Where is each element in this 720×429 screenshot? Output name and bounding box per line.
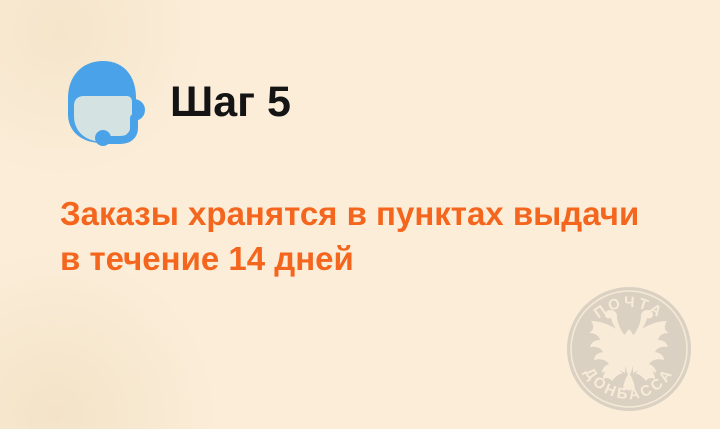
page-title: Шаг 5 (170, 81, 291, 124)
step-header: Шаг 5 (62, 58, 291, 146)
step-description-line-2: в течение 14 дней (60, 237, 700, 282)
pochta-donbassa-watermark: ПОЧТА ДОНБАССА (563, 277, 695, 417)
step-description-line-1: Заказы хранятся в пунктах выдачи (60, 192, 700, 237)
watermark-bottom-text: ДОНБАССА (581, 364, 678, 403)
double-headed-eagle-emblem (589, 310, 669, 391)
watermark-top-text: ПОЧТА (591, 294, 667, 322)
svg-text:ПОЧТА: ПОЧТА (591, 294, 667, 322)
support-headset-icon (62, 58, 146, 146)
svg-text:ДОНБАССА: ДОНБАССА (581, 364, 678, 403)
step-description: Заказы хранятся в пунктах выдачи в течен… (60, 192, 700, 281)
slide-canvas: Шаг 5 Заказы хранятся в пунктах выдачи в… (0, 0, 720, 429)
